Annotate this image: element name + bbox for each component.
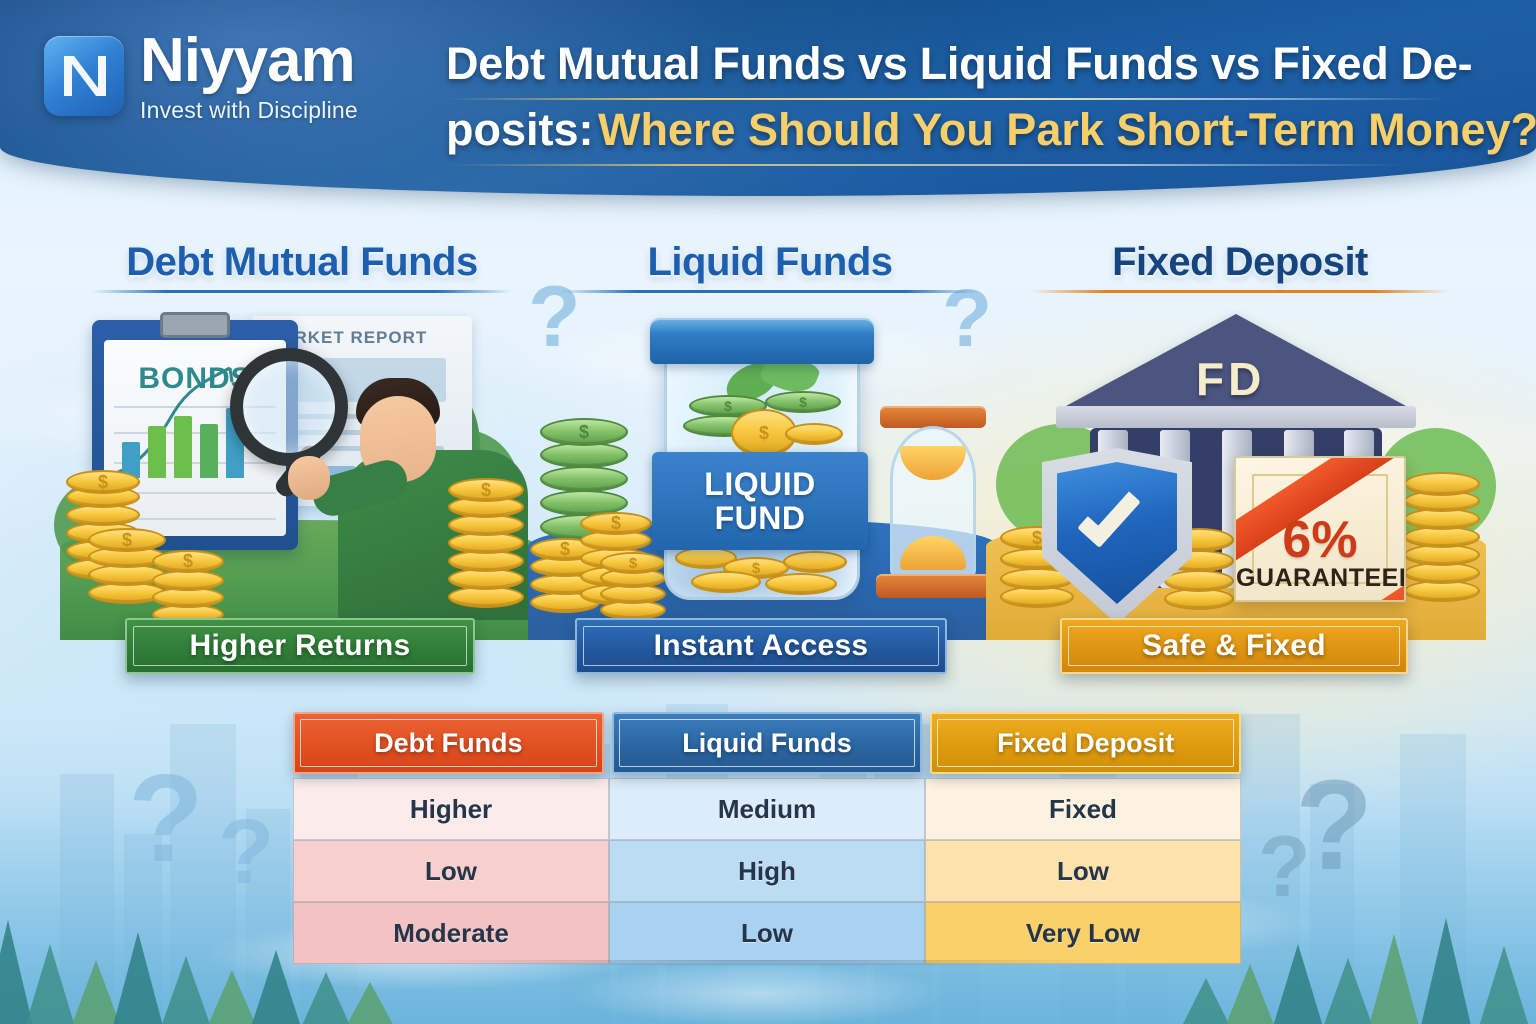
table-header-liquid-funds[interactable]: Liquid Funds (612, 712, 923, 774)
table-cell: Very Low (925, 902, 1241, 964)
table-cell: Medium (609, 778, 925, 840)
column-heading-text: Fixed Deposit (1030, 240, 1450, 285)
title-line-2: posits: Where Should You Park Short-Term… (446, 104, 1504, 156)
brand-logo[interactable]: Niyyam Invest with Discipline (44, 30, 358, 124)
question-mark-icon: ? (218, 800, 274, 905)
certificate-icon: 6% GUARANTEED (1234, 456, 1406, 602)
table-cell: Low (293, 840, 609, 902)
hourglass-top-cap-icon (880, 406, 986, 428)
clipboard-clamp-icon (160, 312, 230, 338)
table-header-label: Fixed Deposit (997, 728, 1174, 759)
hourglass-bottom-cap-icon (876, 574, 990, 598)
person-hand (288, 456, 330, 500)
certificate-note: GUARANTEED (1236, 564, 1404, 593)
jar-label-line1: LIQUID (704, 467, 815, 501)
column-heading-text: Liquid Funds (560, 240, 980, 285)
comparison-table: Debt Funds Liquid Funds Fixed Deposit Hi… (293, 712, 1241, 964)
table-row: Low High Low (293, 840, 1241, 902)
illustration-fixed-deposit: FD $ (986, 300, 1486, 640)
question-mark-icon: ? (1258, 818, 1311, 917)
column-heading-text: Debt Mutual Funds (92, 240, 512, 285)
table-cell: Moderate (293, 902, 609, 964)
column-heading-liquid-funds: Liquid Funds (560, 240, 980, 293)
title-divider-2 (446, 164, 1406, 166)
fd-label: FD (1196, 352, 1265, 406)
illustration-debt-mutual-funds: MARKET REPORT BONDS (60, 300, 540, 640)
column-heading-fixed-deposit: Fixed Deposit (1030, 240, 1450, 293)
table-cell: Low (609, 902, 925, 964)
title-line-2-white: posits: (446, 104, 594, 155)
heading-underline (92, 290, 512, 293)
letter-n-logo-icon (44, 36, 124, 116)
table-header-fixed-deposit[interactable]: Fixed Deposit (930, 712, 1241, 774)
table-header-label: Debt Funds (374, 728, 523, 759)
magnifier-icon (230, 348, 348, 466)
brand-name: Niyyam (140, 30, 358, 92)
table-header-debt-funds[interactable]: Debt Funds (293, 712, 604, 774)
title-divider-1 (446, 98, 1446, 100)
table-drop-shadow (301, 960, 1233, 978)
bar-chart-bar (174, 416, 192, 478)
heading-underline (560, 290, 980, 293)
certificate-rate: 6% (1236, 510, 1404, 570)
table-header-row: Debt Funds Liquid Funds Fixed Deposit (293, 712, 1241, 774)
table-body: Higher Medium Fixed Low High Low Moderat… (293, 778, 1241, 964)
table-cell: High (609, 840, 925, 902)
table-header-label: Liquid Funds (682, 728, 851, 759)
jar-label-line2: FUND (715, 501, 806, 535)
column-heading-debt-funds: Debt Mutual Funds (92, 240, 512, 293)
table-row: Higher Medium Fixed (293, 778, 1241, 840)
banner-label: Instant Access (654, 629, 869, 663)
table-cell: Low (925, 840, 1241, 902)
jar-label: LIQUID FUND (652, 452, 868, 550)
heading-underline (1030, 290, 1450, 293)
banner-label: Higher Returns (190, 629, 411, 663)
bar-chart-bar (200, 424, 218, 478)
infographic-poster: Niyyam Invest with Discipline Debt Mutua… (0, 0, 1536, 1024)
table-cell: Higher (293, 778, 609, 840)
bank-entablature (1056, 406, 1416, 428)
banner-safe-and-fixed[interactable]: Safe & Fixed (1060, 618, 1408, 674)
jar-lid-icon (650, 318, 874, 364)
table-row: Moderate Low Very Low (293, 902, 1241, 964)
banner-higher-returns[interactable]: Higher Returns (125, 618, 475, 674)
poster-title: Debt Mutual Funds vs Liquid Funds vs Fix… (446, 36, 1504, 166)
banner-instant-access[interactable]: Instant Access (575, 618, 947, 674)
question-mark-icon: ? (128, 748, 204, 890)
brand-tagline: Invest with Discipline (140, 96, 358, 124)
banner-label: Safe & Fixed (1142, 629, 1326, 663)
title-line-1: Debt Mutual Funds vs Liquid Funds vs Fix… (446, 36, 1504, 92)
title-line-2-accent: Where Should You Park Short-Term Money? (598, 104, 1536, 155)
table-cell: Fixed (925, 778, 1241, 840)
bar-chart-bar (148, 426, 166, 478)
illustration-liquid-funds: $ $ $ $ $ $ $ (528, 300, 998, 640)
